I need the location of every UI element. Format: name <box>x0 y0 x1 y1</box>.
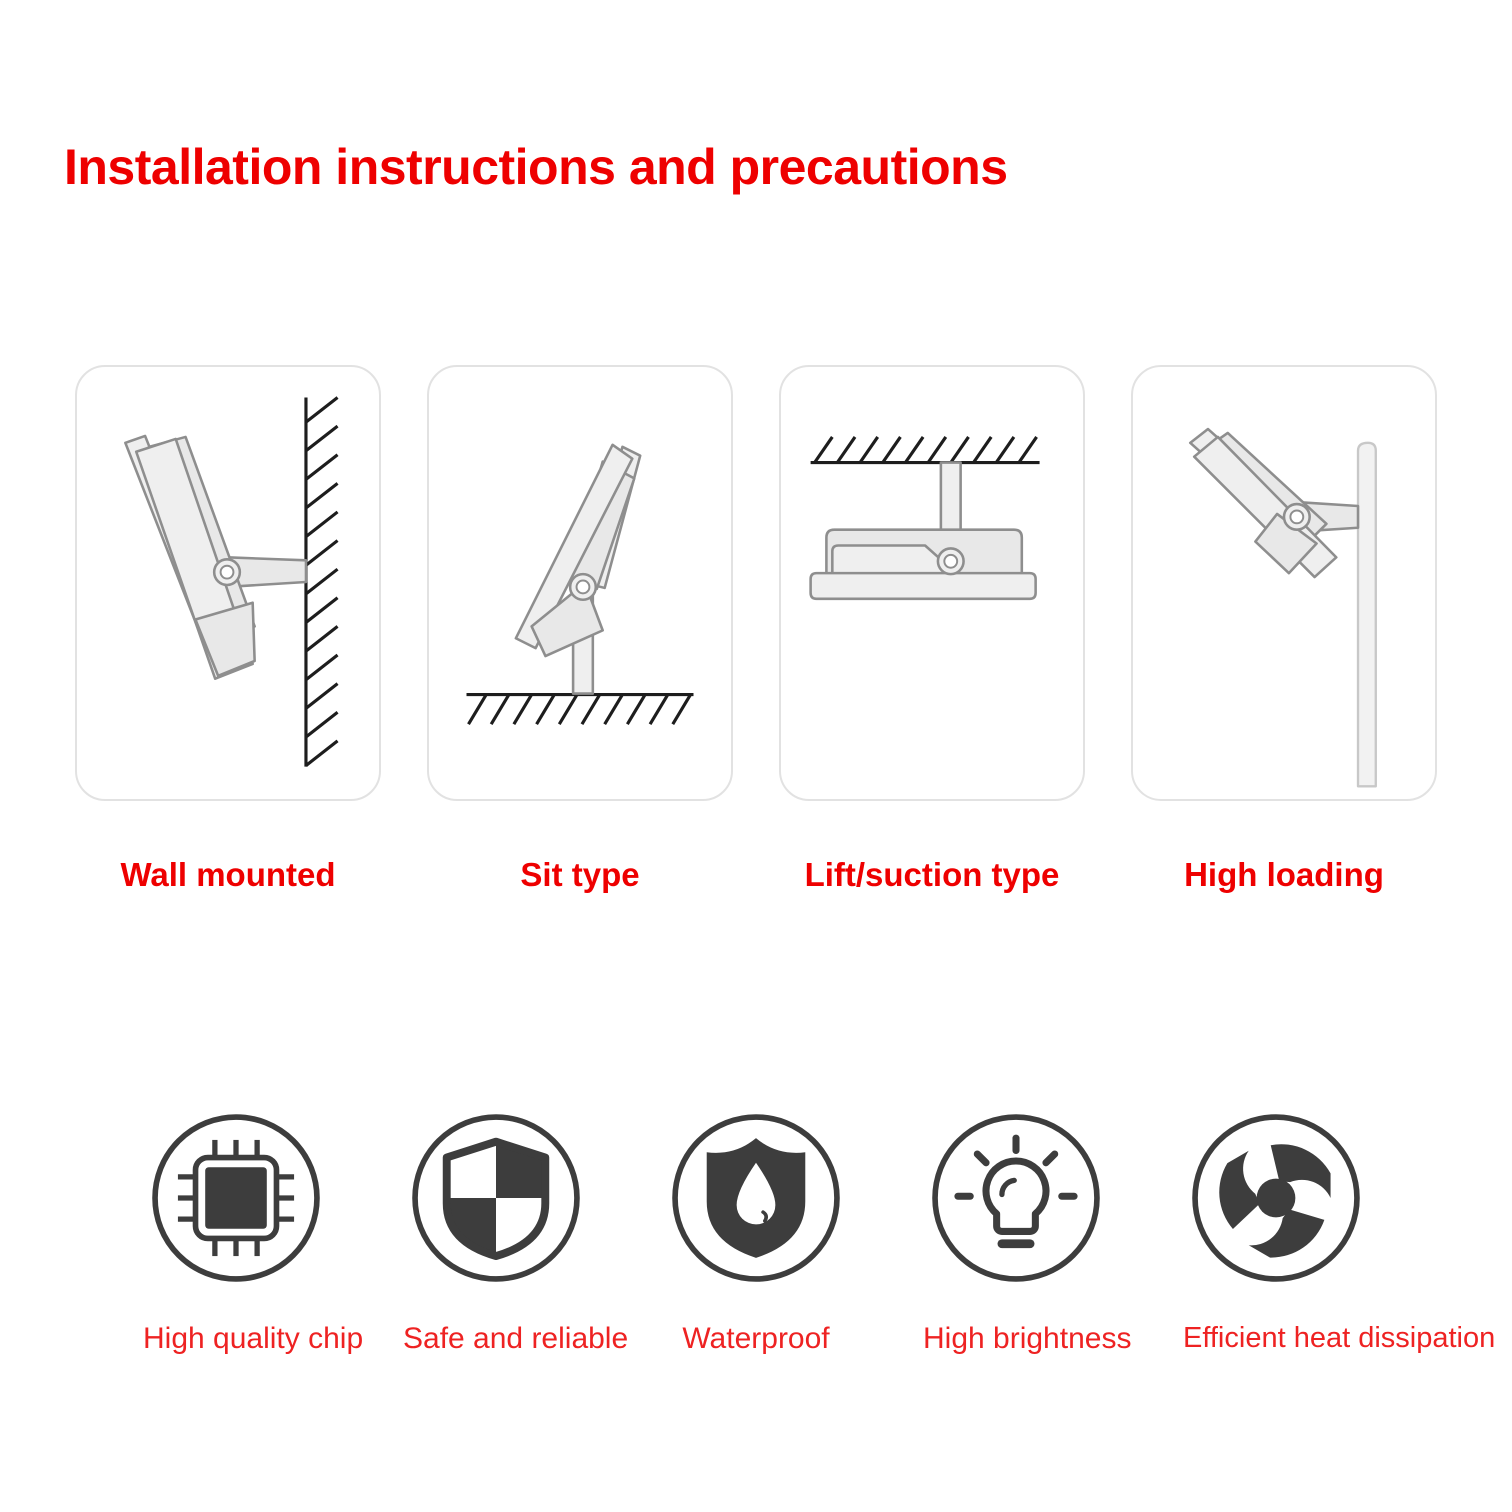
feature-item-high-quality-chip[interactable] <box>143 1110 329 1286</box>
feature-labels-row: High quality chip Safe and reliable Wate… <box>0 1324 1512 1370</box>
installation-panel-lift-suction-type[interactable] <box>779 365 1085 801</box>
floodlight-ceiling-mount-icon <box>781 367 1083 799</box>
installation-panel-high-loading[interactable] <box>1131 365 1437 801</box>
installation-label-lift-suction-type: Lift/suction type <box>779 858 1085 912</box>
installation-label-high-loading: High loading <box>1131 858 1437 912</box>
feature-item-high-brightness[interactable] <box>923 1110 1109 1286</box>
feature-item-waterproof[interactable] <box>663 1110 849 1286</box>
feature-label-efficient-heat-dissipation: Efficient heat dissipation <box>1183 1324 1369 1353</box>
lightbulb-rays-icon <box>928 1110 1104 1286</box>
installation-panels-row <box>0 365 1512 805</box>
feature-item-safe-and-reliable[interactable] <box>403 1110 589 1286</box>
checkered-shield-icon <box>408 1110 584 1286</box>
feature-label-safe-and-reliable: Safe and reliable <box>403 1324 589 1354</box>
installation-panel-sit-type[interactable] <box>427 365 733 801</box>
page-title: Installation instructions and precaution… <box>64 140 1008 195</box>
cpu-chip-icon <box>148 1110 324 1286</box>
feature-label-high-brightness: High brightness <box>923 1324 1109 1354</box>
installation-label-wall-mounted: Wall mounted <box>75 858 381 912</box>
feature-label-waterproof: Waterproof <box>663 1324 849 1354</box>
floodlight-wall-bracket-icon <box>77 367 379 799</box>
floodlight-ground-stand-icon <box>429 367 731 799</box>
installation-labels-row: Wall mounted Sit type Lift/suction type … <box>0 858 1512 912</box>
feature-label-high-quality-chip: High quality chip <box>143 1324 329 1354</box>
installation-label-sit-type: Sit type <box>427 858 733 912</box>
feature-item-efficient-heat-dissipation[interactable] <box>1183 1110 1369 1286</box>
floodlight-pole-mount-icon <box>1133 367 1435 799</box>
installation-panel-wall-mounted[interactable] <box>75 365 381 801</box>
shield-water-drop-icon <box>668 1110 844 1286</box>
radiation-trefoil-icon <box>1188 1110 1364 1286</box>
features-row <box>0 1098 1512 1298</box>
